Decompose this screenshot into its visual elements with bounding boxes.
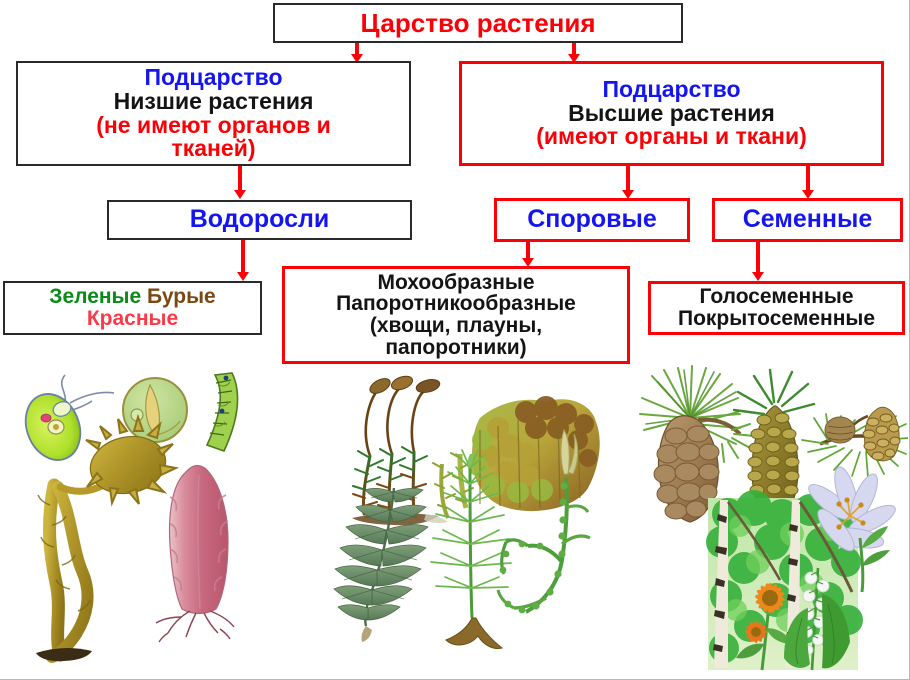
higher-subkingdom-note: (имеют органы и ткани): [536, 125, 807, 149]
algae-type-green: Зеленые: [49, 285, 141, 308]
arrow-algae-to-algae-types: [241, 240, 245, 282]
higher-subkingdom-label: Подцарство: [602, 78, 740, 102]
algae-types-box: Зеленые Бурые Красные: [3, 281, 262, 335]
seed-group-gymnosperms: Голосеменные: [699, 286, 853, 308]
arrow-higher-subkingdom-to-spore: [626, 166, 630, 200]
seed-groups-box: Голосеменные Покрытосеменные: [648, 281, 905, 335]
arrow-title-to-lower-subkingdom: [355, 41, 359, 63]
fern-frond-illustration: [334, 488, 428, 642]
algae-label: Водоросли: [190, 207, 330, 233]
algae-types-line1: Зеленые Бурые: [49, 286, 215, 308]
arrow-spore-to-spore-groups: [526, 240, 530, 268]
plant-kingdom-classification-diagram: Царство растения Подцарство Низшие расте…: [0, 0, 910, 680]
arrow-title-to-higher-subkingdom: [572, 41, 576, 63]
seed-plant-illustrations-group: [632, 352, 908, 674]
algae-illustrations-group: [10, 365, 300, 675]
spore-group-note-line1: (хвощи, плауны,: [370, 315, 542, 337]
algae-type-brown: Бурые: [147, 285, 216, 308]
higher-subkingdom-box: Подцарство Высшие растения (имеют органы…: [459, 61, 884, 166]
seed-plants-box: Семенные: [712, 198, 903, 242]
spore-plants-label: Споровые: [527, 207, 657, 233]
spore-plants-box: Споровые: [494, 198, 690, 242]
spore-groups-box: Мохообразные Папоротникообразные (хвощи,…: [282, 266, 630, 364]
lower-subkingdom-label: Подцарство: [144, 66, 282, 90]
spirogyra-filament-algae-illustration: [207, 373, 238, 451]
spore-group-pteridophytes: Папоротникообразные: [336, 293, 576, 315]
birch-grove-with-flowers-illustration: [706, 465, 899, 670]
spore-group-bryophytes: Мохообразные: [377, 272, 534, 294]
lower-subkingdom-note-line2: тканей): [171, 137, 255, 161]
lower-subkingdom-box: Подцарство Низшие растения (не имеют орг…: [16, 61, 411, 166]
seed-group-angiosperms: Покрытосеменные: [678, 308, 875, 330]
polytrichum-moss-with-sporophytes-illustration: [352, 374, 448, 525]
red-algae-thallus-illustration: [156, 466, 234, 642]
seed-plants-label: Семенные: [743, 207, 872, 233]
spore-plant-illustrations-group: [330, 368, 620, 668]
plant-kingdom-title-text: Царство растения: [360, 10, 595, 37]
lower-subkingdom-name: Низшие растения: [114, 90, 314, 114]
arrow-lower-subkingdom-to-algae: [238, 166, 242, 200]
higher-subkingdom-name: Высшие растения: [568, 102, 775, 126]
arrow-seed-to-seed-groups: [756, 240, 760, 282]
arrow-higher-subkingdom-to-seed: [806, 166, 810, 200]
plant-kingdom-title-box: Царство растения: [273, 3, 683, 43]
lower-subkingdom-note-line1: (не имеют органов и: [96, 114, 330, 138]
spore-group-note-line2: папоротники): [385, 337, 526, 359]
algae-type-red: Красные: [87, 308, 178, 330]
larch-branch-with-cones-illustration: [802, 407, 908, 478]
algae-box: Водоросли: [107, 200, 412, 240]
